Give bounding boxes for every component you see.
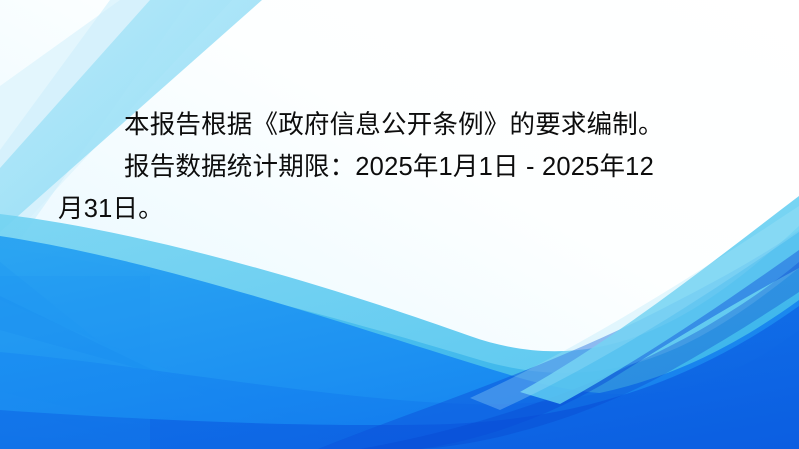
- slide-text-line-1: 本报告根据《政府信息公开条例》的要求编制。: [58, 104, 748, 146]
- background-fill-lower-left-block: [0, 276, 150, 449]
- presentation-slide: 本报告根据《政府信息公开条例》的要求编制。 报告数据统计期限：2025年1月1日…: [0, 0, 799, 449]
- slide-text-line-3: 月31日。: [58, 188, 748, 230]
- slide-text-line-2: 报告数据统计期限：2025年1月1日 - 2025年12: [58, 146, 748, 188]
- slide-body-text: 本报告根据《政府信息公开条例》的要求编制。 报告数据统计期限：2025年1月1日…: [58, 104, 748, 230]
